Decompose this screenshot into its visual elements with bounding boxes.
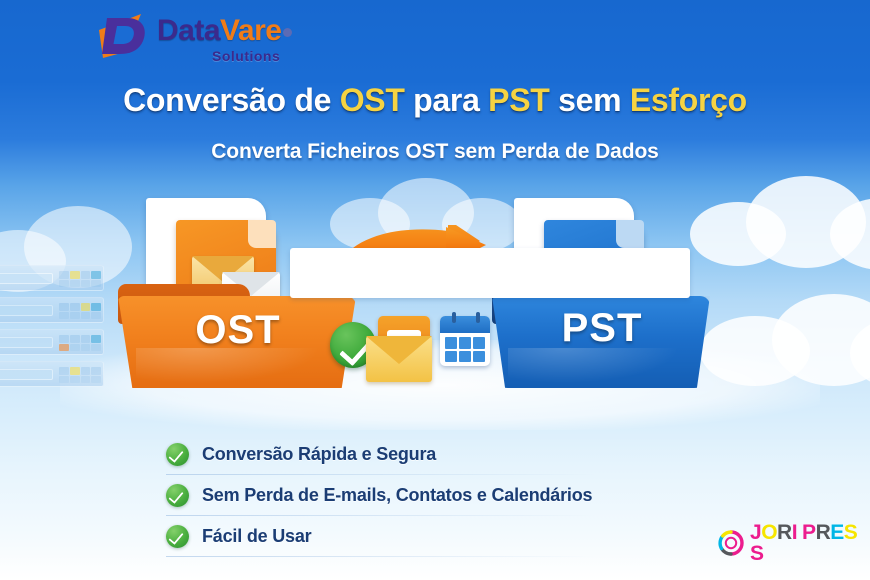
jp-letter-j: J [750, 522, 761, 543]
check-circle-icon [166, 484, 189, 507]
ost-folder-label: OST [118, 308, 358, 353]
list-item: Sem Perda de E-mails, Contatos e Calendá… [166, 475, 626, 516]
ost-folder-sheen [136, 348, 336, 388]
data-type-icon-row [330, 308, 490, 380]
calendar-days [445, 337, 485, 362]
datavare-d-mark-icon [95, 12, 157, 60]
datavare-logo: DataVare Solutions [95, 8, 335, 70]
feature-list: Conversão Rápida e Segura Sem Perda de E… [166, 434, 626, 557]
list-item: Conversão Rápida e Segura [166, 434, 626, 475]
pst-folder-sheen [508, 348, 694, 388]
promo-banner: DataVare Solutions Conversão de OST para… [0, 0, 870, 580]
server-rack-icon [0, 265, 112, 395]
jp-letter-p: P [802, 522, 816, 543]
pst-file-corner-icon [616, 220, 644, 248]
feature-divider [166, 556, 596, 557]
headline-part-3: para [405, 82, 489, 118]
calendar-ring-right-icon [476, 312, 480, 323]
headline-highlight-esforco: Esforço [630, 82, 747, 118]
headline-part-1: Conversão de [123, 82, 340, 118]
calendar-icon [440, 316, 490, 366]
feature-label: Sem Perda de E-mails, Contatos e Calendá… [202, 485, 592, 506]
jp-letter-r1: R [777, 522, 792, 543]
check-circle-icon [166, 525, 189, 548]
check-circle-icon [166, 443, 189, 466]
headline-highlight-pst: PST [488, 82, 549, 118]
jp-letter-i: I [792, 522, 797, 543]
jp-letter-s2: S [750, 543, 764, 564]
jp-letter-o: O [761, 522, 777, 543]
ost-file-corner-icon [248, 220, 276, 248]
jp-letter-s1: S [844, 522, 858, 543]
pst-folder-label: PST [492, 306, 712, 351]
jp-letter-e: E [830, 522, 844, 543]
content-band [290, 248, 690, 298]
feature-label: Conversão Rápida e Segura [202, 444, 436, 465]
page-title: Conversão de OST para PST sem Esforço [0, 82, 870, 119]
logo-word-vare: Vare [220, 14, 281, 47]
headline-highlight-ost: OST [340, 82, 405, 118]
page-subtitle: Converta Ficheiros OST sem Perda de Dado… [0, 140, 870, 164]
logo-tagline: Solutions [212, 48, 280, 64]
feature-label: Fácil de Usar [202, 526, 311, 547]
headline-part-5: sem [550, 82, 630, 118]
jori-press-swirl-icon [718, 530, 744, 556]
jori-press-wordmark: JORIPRESS [750, 522, 858, 564]
calendar-header [440, 316, 490, 333]
datavare-wordmark: DataVare [157, 16, 292, 46]
jp-letter-r2: R [816, 522, 831, 543]
logo-word-data: Data [157, 14, 220, 47]
envelope-flap-icon [366, 336, 432, 364]
list-item: Fácil de Usar [166, 516, 626, 557]
jori-press-logo: JORIPRESS [718, 526, 858, 560]
calendar-ring-left-icon [452, 312, 456, 323]
logo-dot-icon [283, 28, 292, 37]
